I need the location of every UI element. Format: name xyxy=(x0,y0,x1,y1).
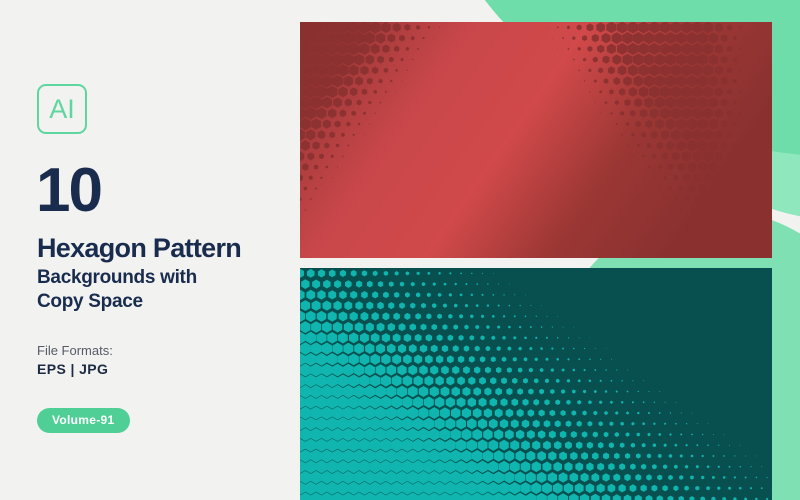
page-subtitle-line-2: Copy Space xyxy=(37,290,277,314)
volume-badge: Volume-91 xyxy=(37,408,130,433)
red-hexagon-pattern-svg xyxy=(300,22,772,258)
page-subtitle: Backgrounds with Copy Space xyxy=(37,266,277,315)
adobe-illustrator-badge: AI xyxy=(37,84,87,134)
page-title: Hexagon Pattern xyxy=(37,235,241,262)
file-formats-value: EPS | JPG xyxy=(37,361,108,377)
red-hexagon-pattern-preview xyxy=(300,22,772,258)
teal-hexagon-pattern-preview xyxy=(300,268,772,500)
page-subtitle-line-1: Backgrounds with xyxy=(37,266,277,290)
file-formats-label: File Formats: xyxy=(37,343,113,358)
info-column: AI 10 Hexagon Pattern Backgrounds with C… xyxy=(36,0,286,500)
poster-canvas: AI 10 Hexagon Pattern Backgrounds with C… xyxy=(0,0,800,500)
adobe-illustrator-badge-label: AI xyxy=(49,96,75,123)
teal-hexagon-pattern-svg xyxy=(300,268,772,500)
item-count: 10 xyxy=(36,160,101,222)
